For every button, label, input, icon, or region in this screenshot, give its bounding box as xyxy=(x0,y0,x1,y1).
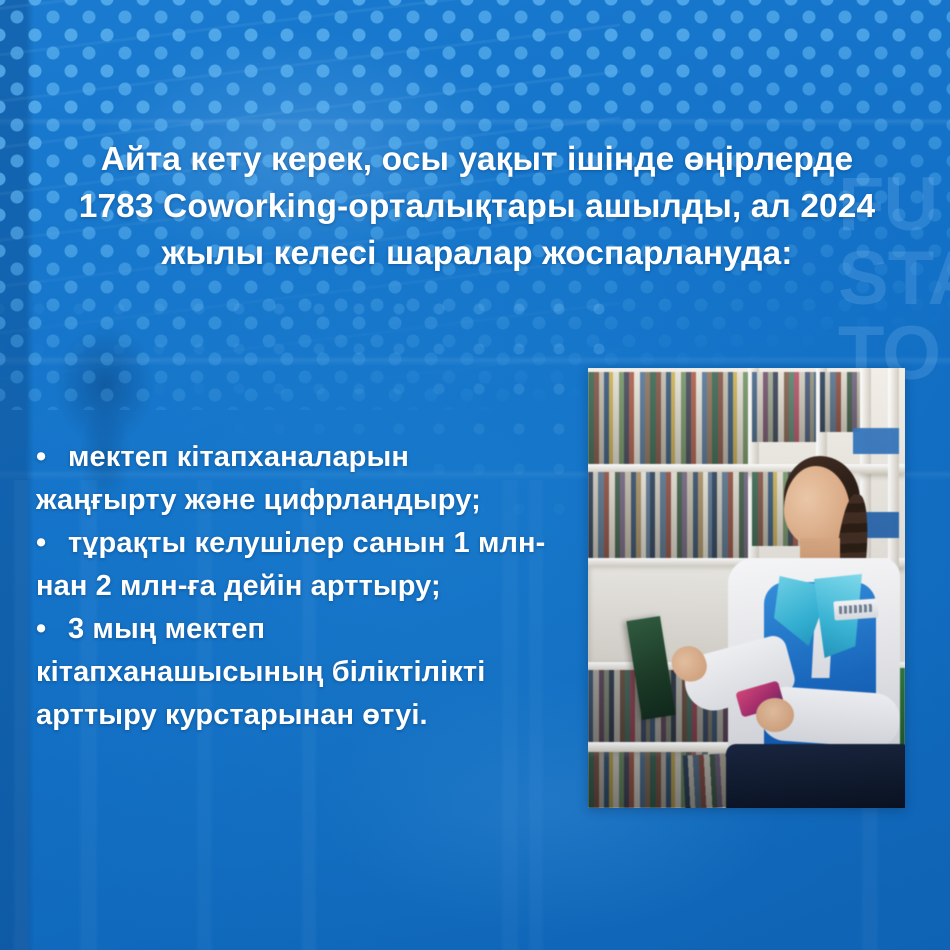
shelf-board xyxy=(588,742,745,752)
list-item-text: тұрақты келушілер санын 1 млн-нан 2 млн-… xyxy=(36,527,545,602)
bullet-marker: • xyxy=(36,608,68,651)
list-item: •тұрақты келушілер санын 1 млн-нан 2 млн… xyxy=(36,522,556,608)
book-row xyxy=(588,372,748,464)
name-badge xyxy=(833,598,878,620)
library-photo xyxy=(588,368,905,808)
skirt xyxy=(726,744,905,808)
bullet-marker: • xyxy=(36,522,68,565)
library-photo-content xyxy=(588,368,905,808)
slide-title: Айта кету керек, осы уақыт ішінде өңірле… xyxy=(66,136,888,277)
book-row xyxy=(752,372,816,442)
lower-hand xyxy=(756,698,794,732)
list-item: •3 мың мектеп кітапханашысының біліктілі… xyxy=(36,608,556,737)
list-item: •мектеп кітапханаларын жаңғырту және циф… xyxy=(36,436,556,522)
list-item-text: 3 мың мектеп кітапханашысының біліктілік… xyxy=(36,613,485,731)
presentation-slide: FU STA TO Айта кету керек, осы уақыт іші… xyxy=(0,0,950,950)
bullet-marker: • xyxy=(36,436,68,479)
bullet-list: •мектеп кітапханаларын жаңғырту және циф… xyxy=(36,436,556,737)
empty-nook xyxy=(588,566,746,662)
list-item-text: мектеп кітапханаларын жаңғырту және цифр… xyxy=(36,441,481,516)
book-row xyxy=(588,472,748,558)
